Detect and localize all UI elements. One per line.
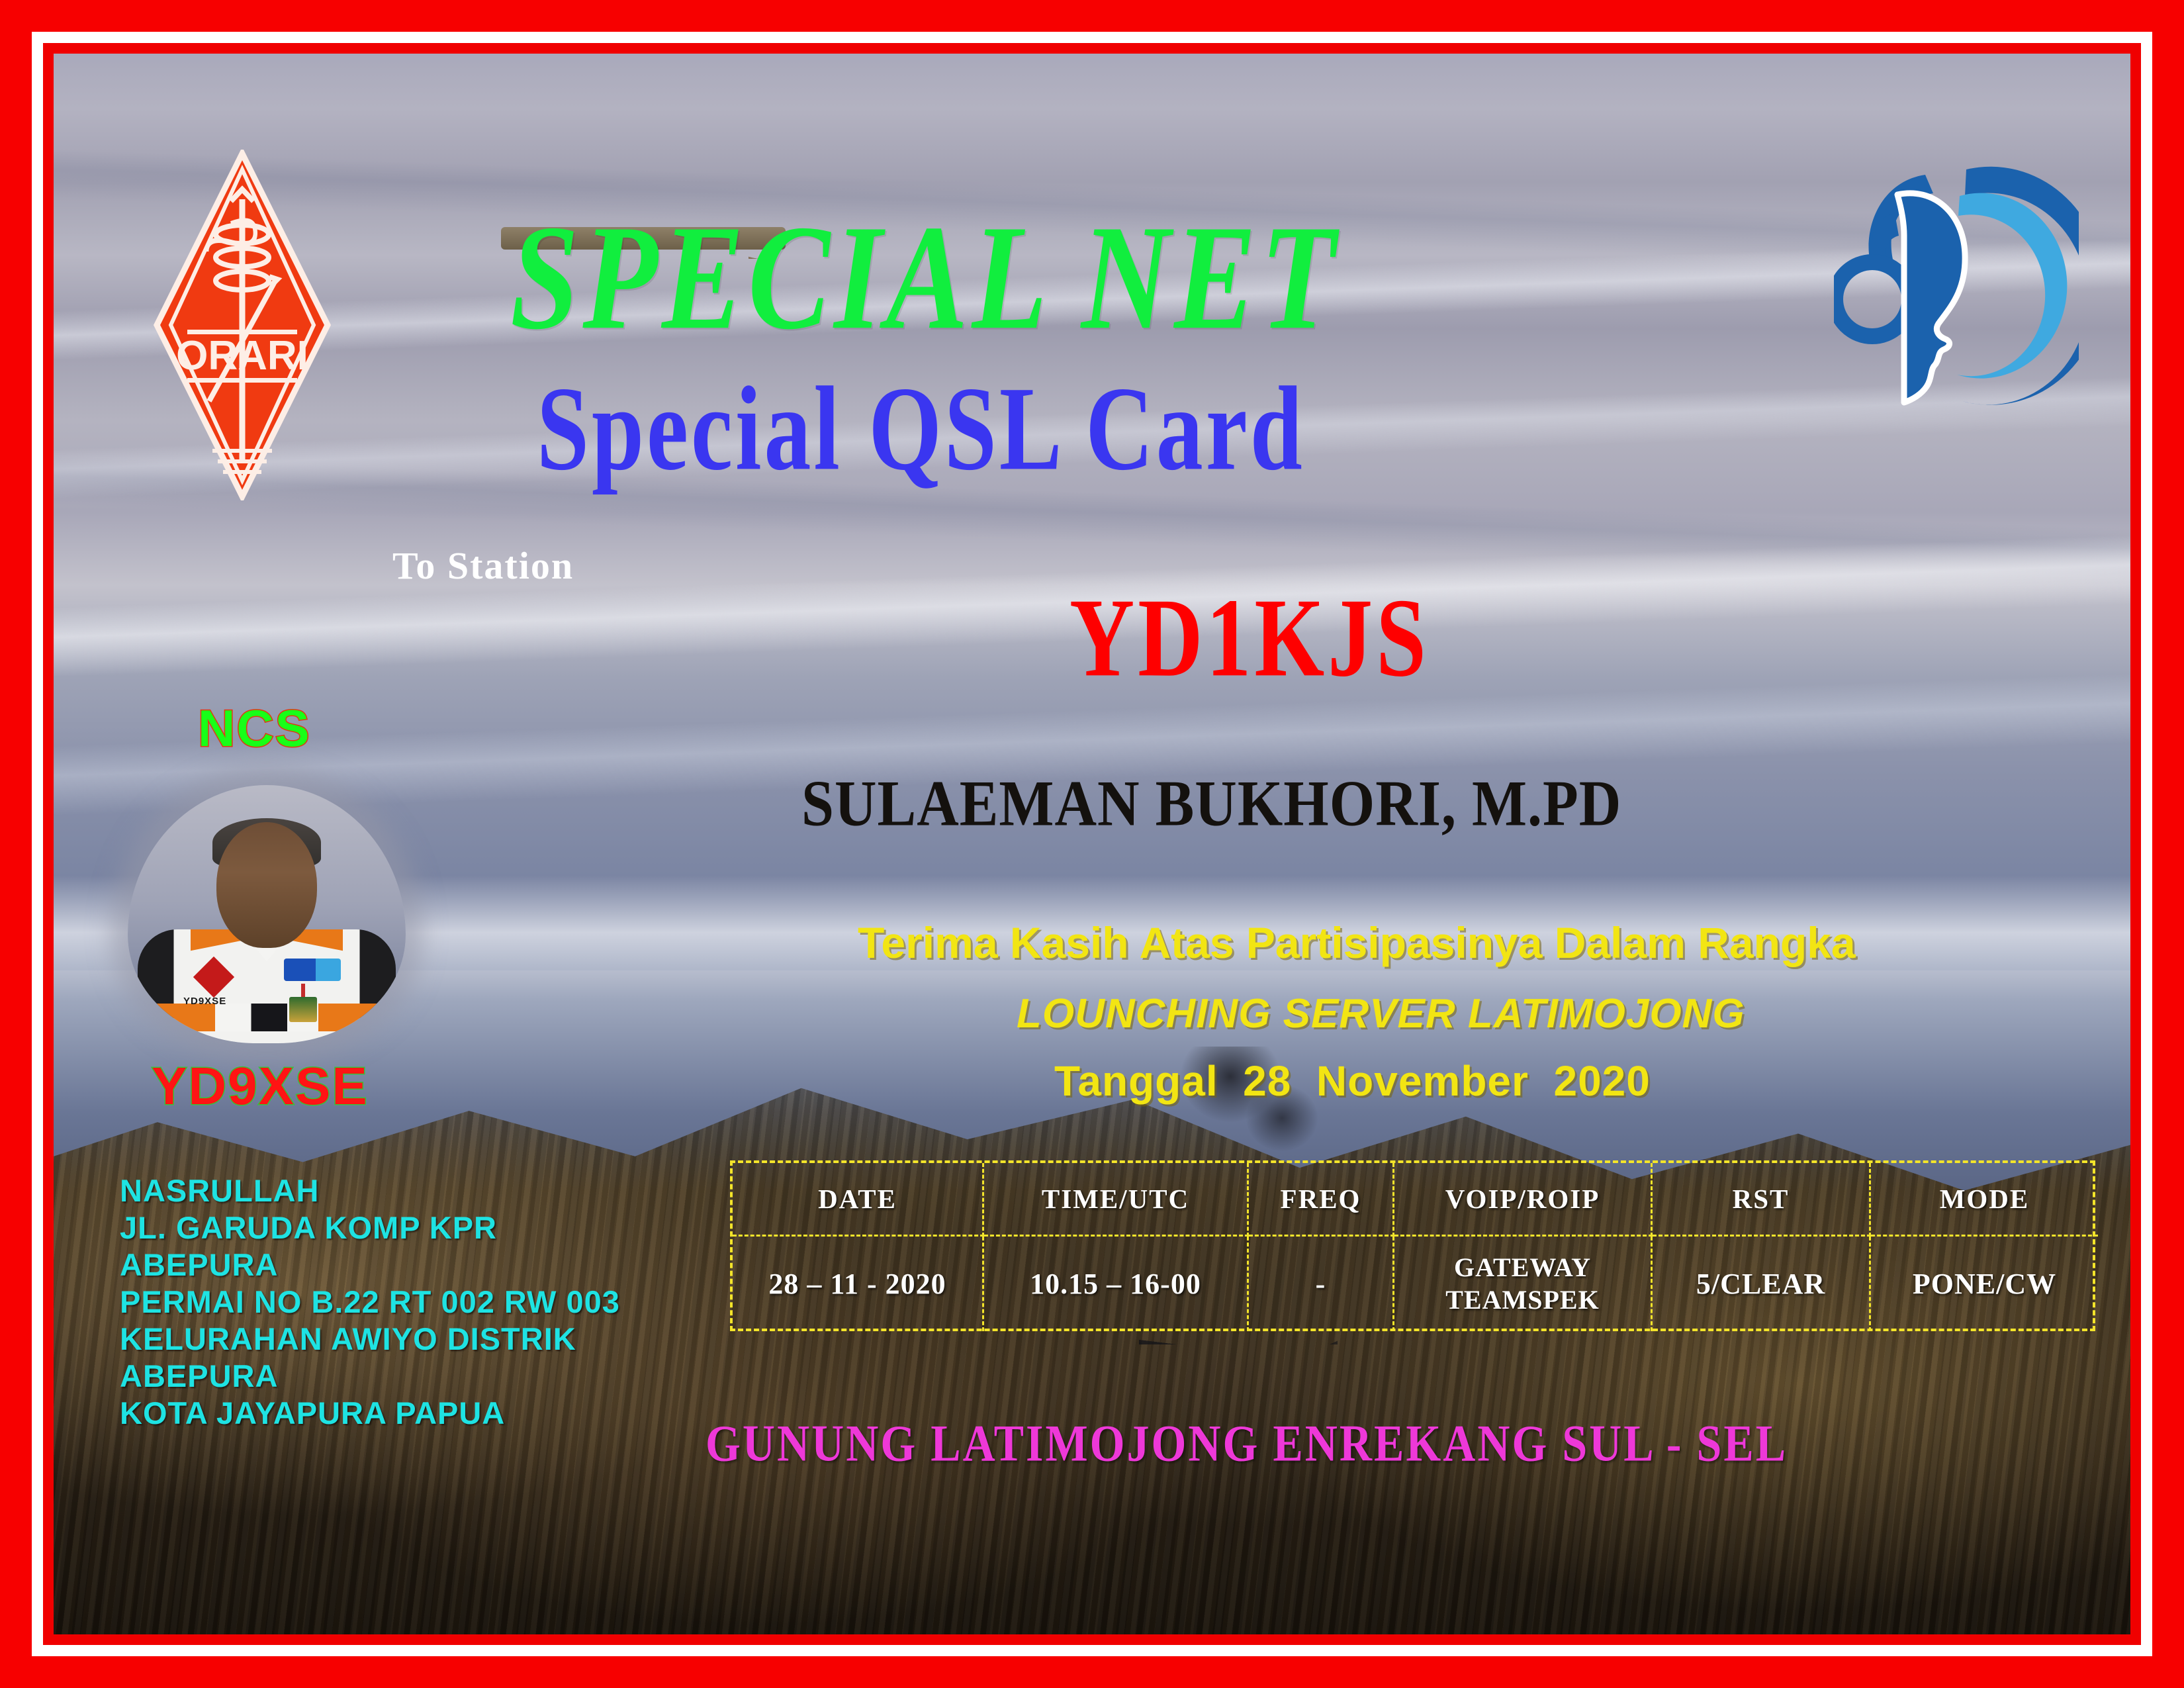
- address-line: PERMAI NO B.22 RT 002 RW 003: [120, 1284, 620, 1321]
- table-cell-voip-roip: GATEWAY TEAMSPEK: [1394, 1237, 1653, 1331]
- operator-uniform-stripe: [138, 1004, 396, 1031]
- thanks-line-1: Terima Kasih Atas Partisipasinya Dalam R…: [858, 921, 1856, 964]
- address-line: JL. GARUDA KOMP KPR: [120, 1209, 620, 1246]
- card-border-inner: ORARI SPECIAL NET: [43, 43, 2141, 1645]
- table-header-freq: FREQ: [1249, 1163, 1394, 1237]
- address-block: NASRULLAH JL. GARUDA KOMP KPR ABEPURA PE…: [120, 1172, 620, 1431]
- table-cell-date: 28 – 11 - 2020: [733, 1237, 984, 1331]
- content-layer: ORARI SPECIAL NET: [54, 54, 2130, 1634]
- card-photo-background: ORARI SPECIAL NET: [54, 54, 2130, 1634]
- ncs-callsign: YD9XSE: [152, 1060, 369, 1113]
- to-station-label: To Station: [392, 547, 574, 585]
- card-border-gap: ORARI SPECIAL NET: [32, 32, 2152, 1656]
- orari-logo-text: ORARI: [176, 333, 308, 379]
- table-cell-time-utc: 10.15 – 16-00: [984, 1237, 1249, 1331]
- table-header-date: DATE: [733, 1163, 984, 1237]
- thanks-line-2: LOUNCHING SERVER LATIMOJONG: [1017, 994, 1745, 1035]
- operator-id-card: [289, 997, 317, 1022]
- location-line: GUNUNG LATIMOJONG ENREKANG SUL - SEL: [705, 1417, 1788, 1469]
- address-line: ABEPURA: [120, 1246, 620, 1284]
- ncs-label: NCS: [198, 702, 311, 754]
- orari-logo: ORARI: [153, 150, 332, 500]
- operator-shirt-callsign: YD9XSE: [183, 996, 226, 1007]
- subtitle-special-qsl-card: Special QSL Card: [537, 368, 1305, 489]
- operator-face: [216, 822, 317, 948]
- table-cell-rst: 5/CLEAR: [1653, 1237, 1871, 1331]
- table-cell-freq: -: [1249, 1237, 1394, 1331]
- thanks-line-3: Tanggal 28 November 2020: [1054, 1060, 1651, 1102]
- table-header-rst: RST: [1653, 1163, 1871, 1237]
- operator-photo: YD9XSE: [128, 785, 406, 1043]
- page-title-special-net: SPECIAL NET: [510, 203, 1340, 353]
- table-header-time-utc: TIME/UTC: [984, 1163, 1249, 1237]
- table-header-voip-roip: VOIP/ROIP: [1394, 1163, 1653, 1237]
- qso-log-table: DATE TIME/UTC FREQ VOIP/ROIP RST MODE 28…: [730, 1160, 2095, 1331]
- station-callsign: YD1KJS: [1069, 582, 1430, 694]
- qsl-card: ORARI SPECIAL NET: [0, 0, 2184, 1688]
- table-cell-mode: PONE/CW: [1871, 1237, 2098, 1331]
- table-header-mode: MODE: [1871, 1163, 2098, 1237]
- address-line: ABEPURA: [120, 1358, 620, 1395]
- address-line: KELURAHAN AWIYO DISTRIK: [120, 1321, 620, 1358]
- address-line: NASRULLAH: [120, 1172, 620, 1209]
- operator-badge-patch: [284, 959, 341, 981]
- address-line: KOTA JAYAPURA PAPUA: [120, 1395, 620, 1432]
- operator-name: SULAEMAN BUKHORI, M.PD: [801, 772, 1621, 837]
- headset-face-logo: [1834, 156, 2079, 414]
